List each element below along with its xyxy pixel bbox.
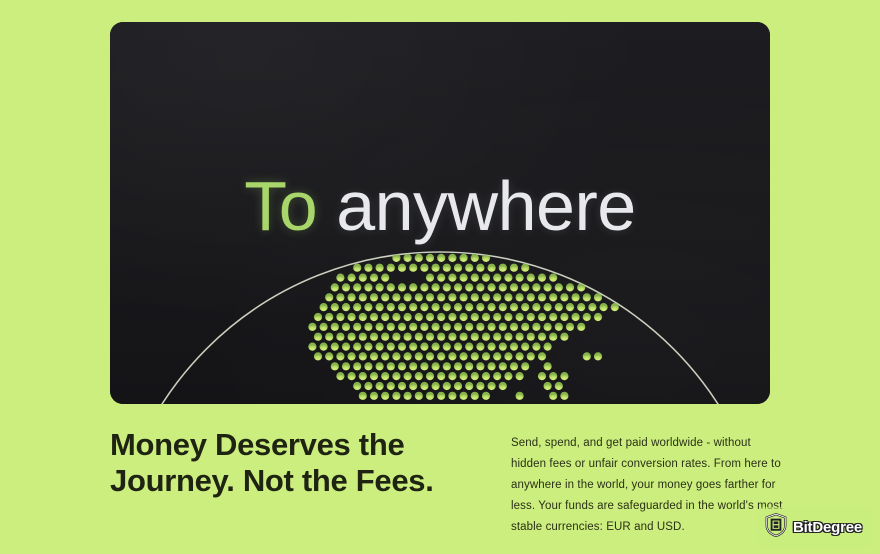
bitdegree-watermark: BitDegree	[757, 507, 872, 548]
content-section: Money Deserves the Journey. Not the Fees…	[0, 418, 880, 554]
hero-title-plain: anywhere	[336, 167, 636, 245]
hero-card: To anywhere	[110, 22, 770, 404]
page-headline: Money Deserves the Journey. Not the Fees…	[110, 427, 440, 499]
bitdegree-shield-icon	[765, 513, 787, 542]
body-paragraph: Send, spend, and get paid worldwide - wi…	[511, 433, 783, 538]
hero-title-accent: To	[244, 167, 317, 245]
hero-title: To anywhere	[110, 170, 770, 244]
bitdegree-brand-text: BitDegree	[793, 519, 862, 536]
